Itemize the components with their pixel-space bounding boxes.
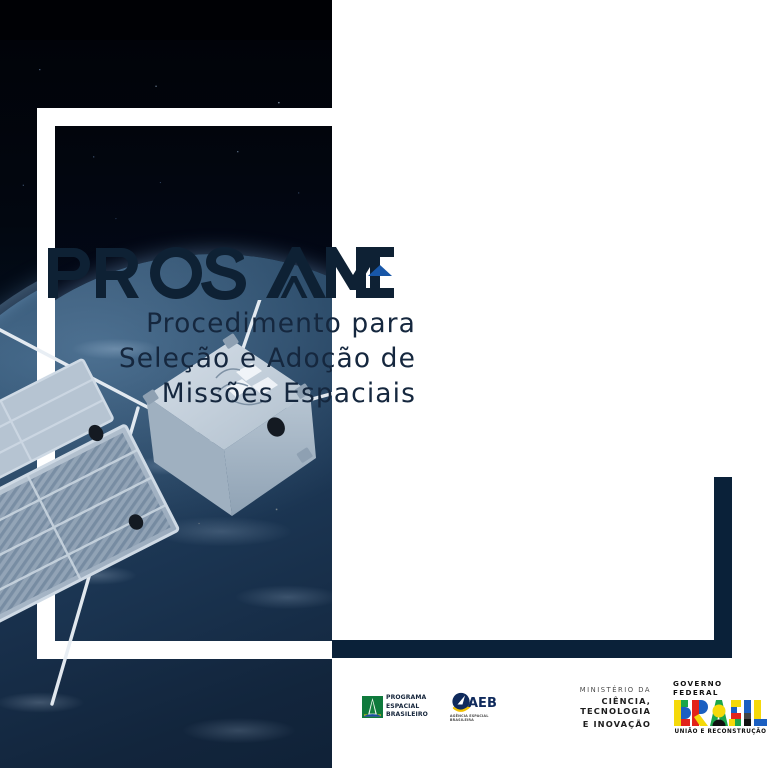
navy-bracket-vertical xyxy=(714,477,732,658)
prosame-tagline: Procedimento para Seleção e Adoção de Mi… xyxy=(48,306,416,412)
footer-logos: PROGRAMA ESPACIAL BRASILEIRO AEB AGÊNCIA… xyxy=(332,676,768,738)
ministry-line-3: E INOVAÇÃO xyxy=(535,719,651,729)
aeb-emblem-icon: AEB xyxy=(451,692,509,713)
peb-label: PROGRAMA ESPACIAL BRASILEIRO xyxy=(386,694,428,719)
ministry-line-1: MINISTÉRIO DA xyxy=(535,686,651,694)
governo-federal-label: GOVERNO FEDERAL xyxy=(673,679,768,697)
inner-city-lights xyxy=(55,406,332,641)
aeb-subtitle: AGÊNCIA ESPACIAL BRASILEIRA xyxy=(450,714,509,722)
prosame-cover-poster: Procedimento para Seleção e Adoção de Mi… xyxy=(0,0,768,768)
prosame-wordmark xyxy=(48,246,400,300)
uniao-reconstrucao-label: UNIÃO E RECONSTRUÇÃO xyxy=(675,729,767,735)
prosame-logo-block: Procedimento para Seleção e Adoção de Mi… xyxy=(48,246,416,412)
ministry-line-2: CIÊNCIA, TECNOLOGIA xyxy=(535,696,651,716)
logo-aeb: AEB AGÊNCIA ESPACIAL BRASILEIRA xyxy=(450,692,509,722)
peb-emblem-icon xyxy=(362,696,383,718)
svg-text:AEB: AEB xyxy=(468,696,497,711)
brasil-wordmark-icon xyxy=(673,699,768,727)
logo-governo-federal: GOVERNO FEDERAL xyxy=(673,679,768,735)
navy-bracket-horizontal xyxy=(332,640,732,658)
logo-programa-espacial-brasileiro: PROGRAMA ESPACIAL BRASILEIRO xyxy=(362,694,428,719)
logo-ministerio: MINISTÉRIO DA CIÊNCIA, TECNOLOGIA E INOV… xyxy=(535,686,651,729)
